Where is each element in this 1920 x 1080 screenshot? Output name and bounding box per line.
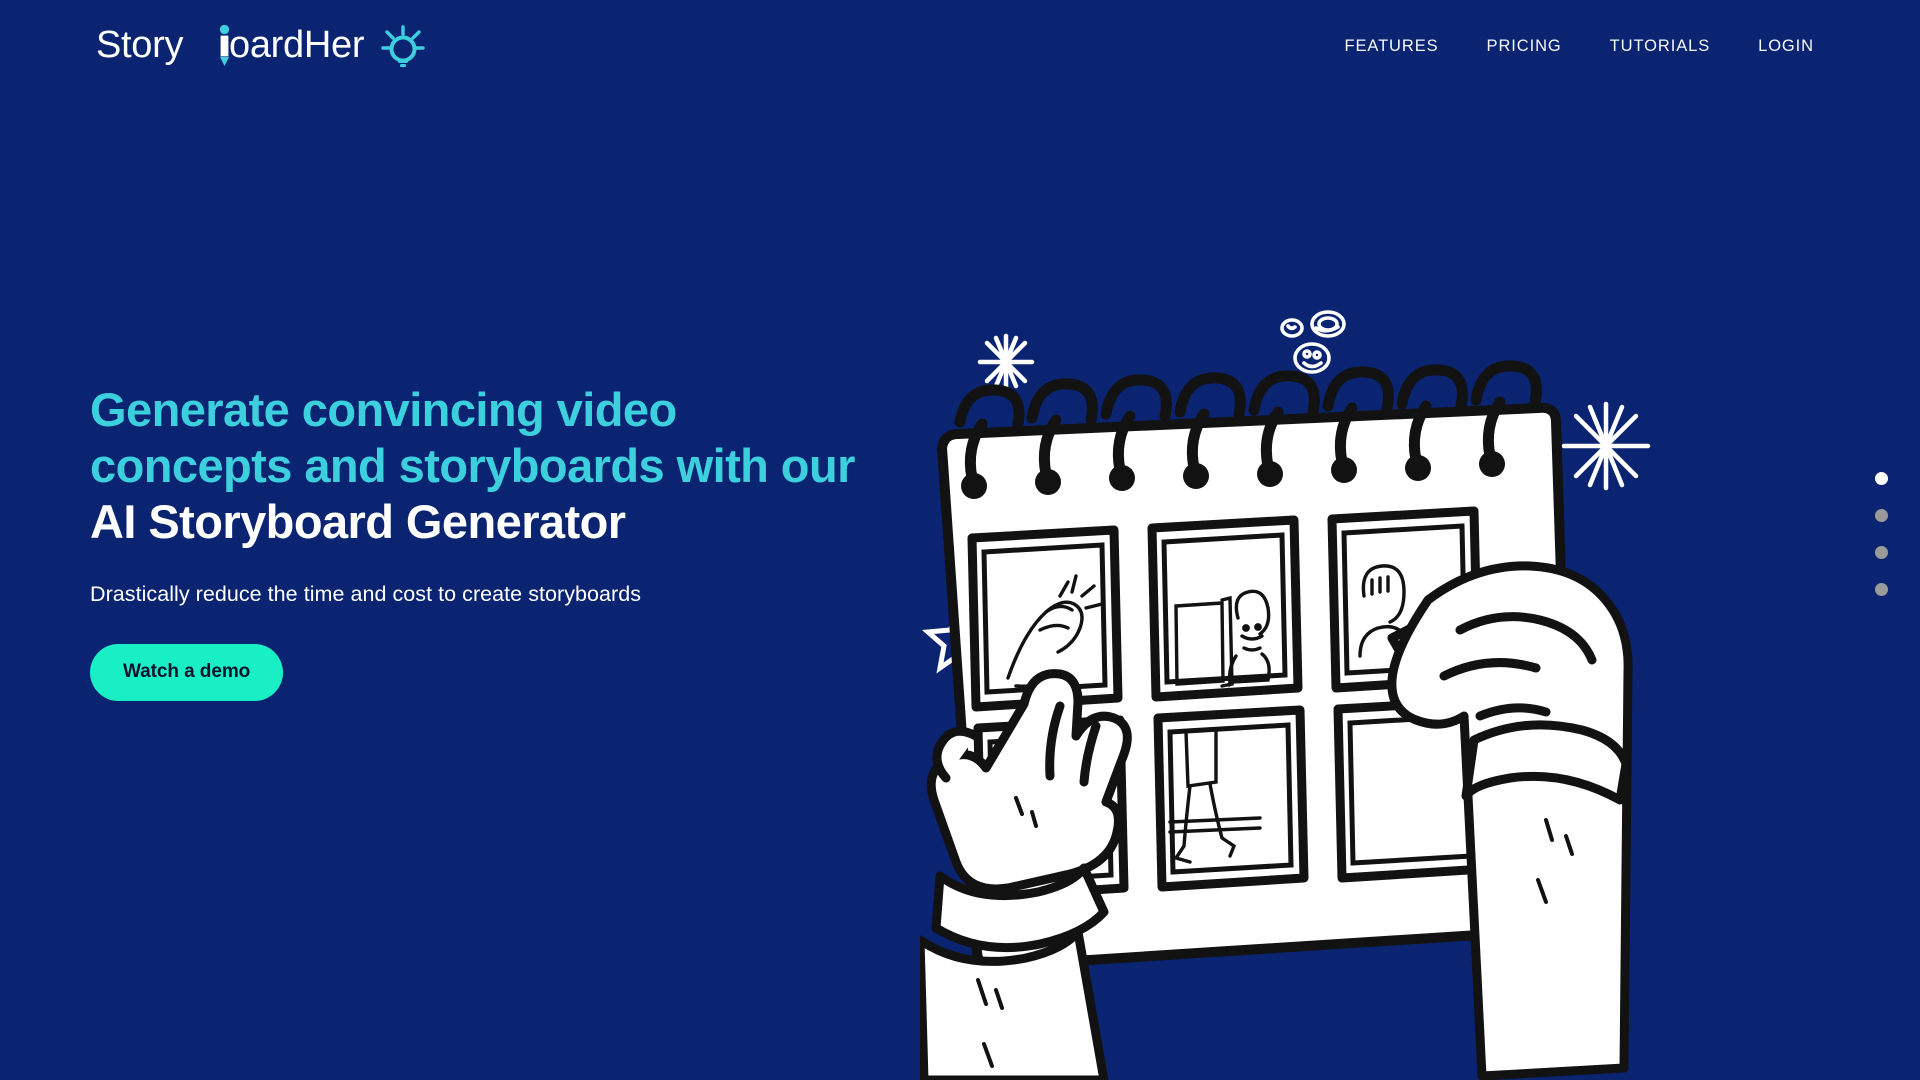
nav-link-features[interactable]: FEATURES <box>1344 37 1438 56</box>
page-title: Generate convincing video concepts and s… <box>90 382 990 550</box>
hero-copy: Generate convincing video concepts and s… <box>90 382 990 701</box>
sparkle-icon <box>1564 404 1648 488</box>
site-header: Story oardHer <box>0 0 1920 92</box>
lightbulb-icon <box>383 27 423 67</box>
section-dot-3[interactable] <box>1873 544 1890 561</box>
sparkle-icon <box>980 336 1032 388</box>
section-dot-1[interactable] <box>1873 470 1890 487</box>
nav-link-login[interactable]: LOGIN <box>1758 37 1814 56</box>
hero-title-line-2: concepts and storyboards with our <box>90 438 990 494</box>
section-dot-nav <box>1868 470 1894 598</box>
brand-text-part-one: Story <box>96 24 183 66</box>
section-dot-2[interactable] <box>1873 507 1890 524</box>
brand-text-part-two: oardHer <box>229 24 365 66</box>
nav-link-tutorials[interactable]: TUTORIALS <box>1610 37 1710 56</box>
hand-with-pencil <box>1392 566 1628 1076</box>
storyboard-pad-illustration <box>920 300 1920 1080</box>
brand-logo[interactable]: Story oardHer <box>96 17 476 75</box>
doodle-blob-group <box>1282 312 1344 372</box>
hero-subtitle: Drastically reduce the time and cost to … <box>90 579 990 610</box>
section-dot-4[interactable] <box>1873 581 1890 598</box>
hero-title-line-1: Generate convincing video <box>90 382 990 438</box>
hand-holding-pad <box>920 674 1127 1080</box>
hero-title-line-3: AI Storyboard Generator <box>90 494 990 550</box>
hero-section: Generate convincing video concepts and s… <box>0 0 1920 1080</box>
pencil-icon <box>220 25 229 66</box>
watch-demo-button[interactable]: Watch a demo <box>90 644 283 701</box>
main-navigation: FEATURES PRICING TUTORIALS LOGIN <box>1344 37 1864 56</box>
nav-link-pricing[interactable]: PRICING <box>1487 37 1562 56</box>
